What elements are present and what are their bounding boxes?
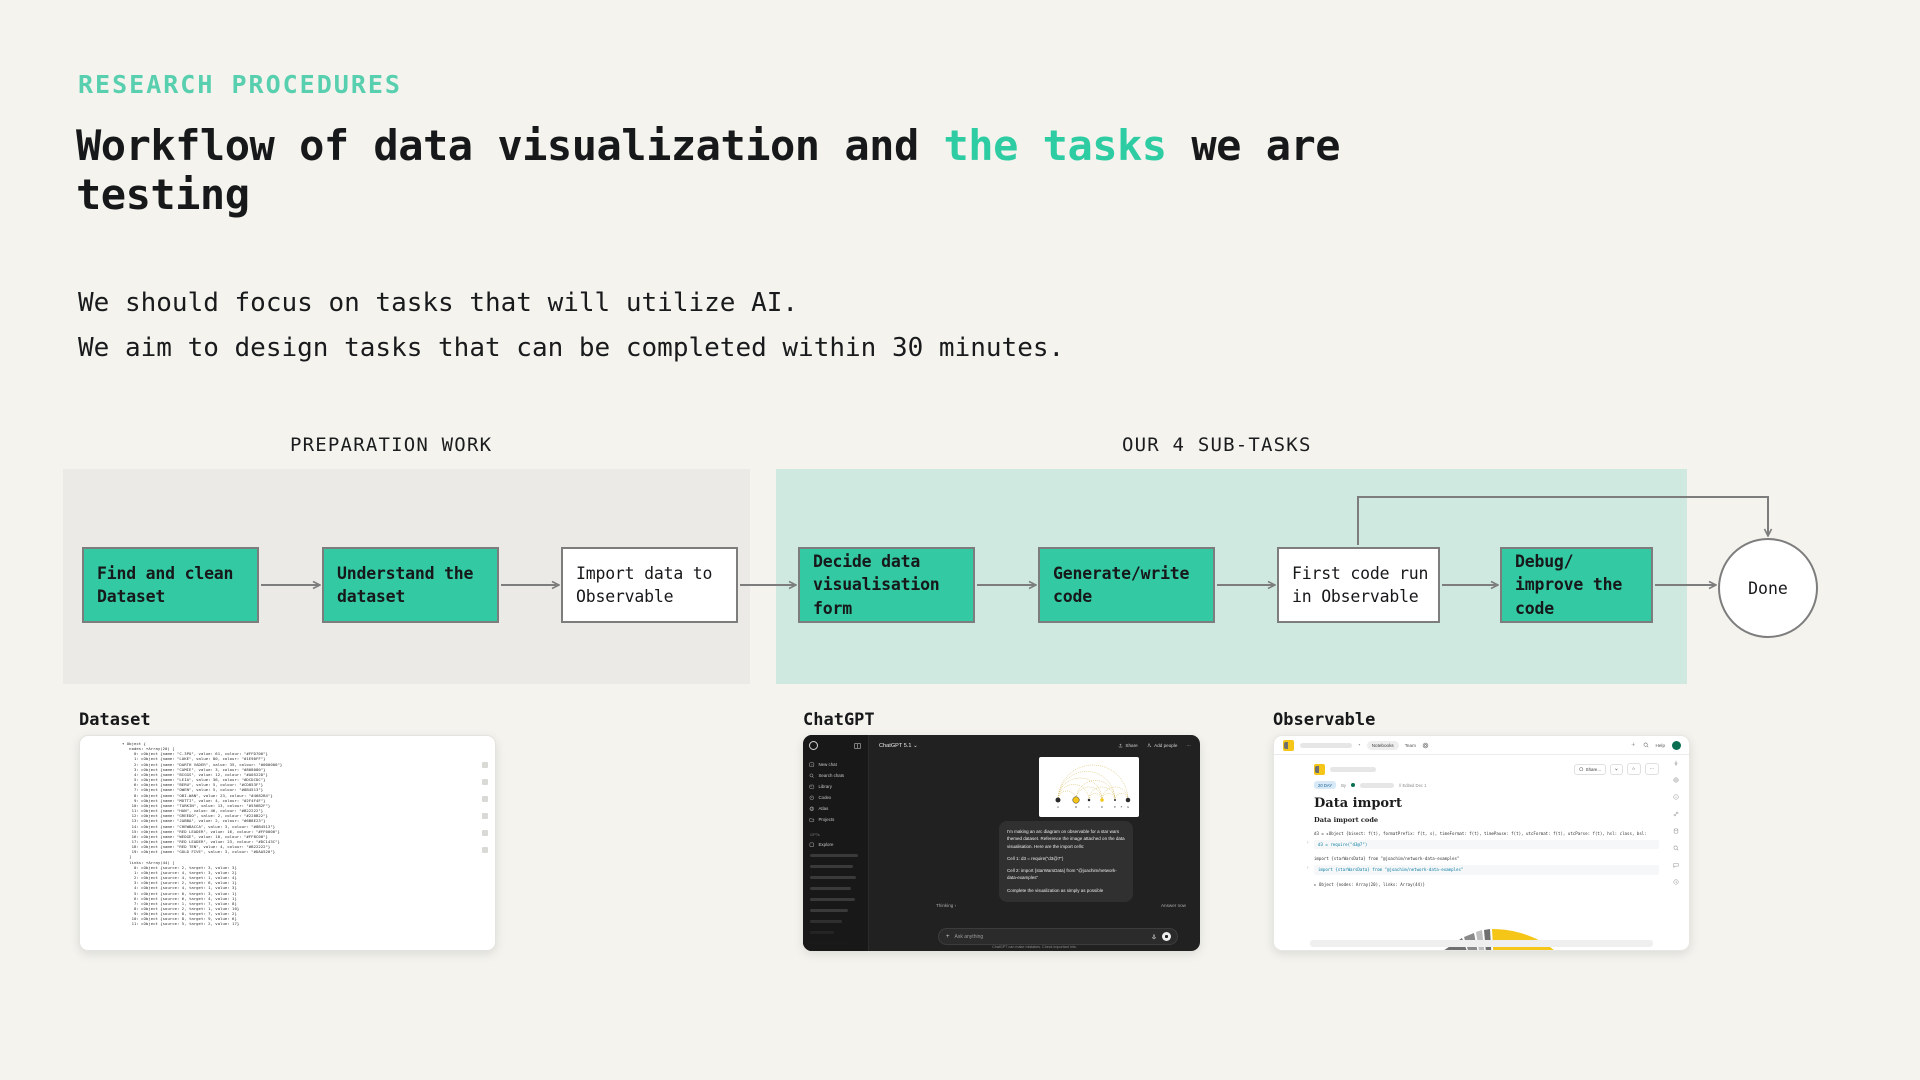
sidebar-item-label: New chat: [819, 762, 837, 767]
svg-text:B: B: [1075, 805, 1077, 809]
avatar[interactable]: [1672, 741, 1681, 750]
share-label: Share...: [1586, 767, 1601, 772]
lede-text: We should focus on tasks that will utili…: [78, 281, 1064, 370]
more-options-button[interactable]: ⋯: [1645, 763, 1659, 775]
codex-icon: [809, 795, 815, 801]
rail-icon-copy[interactable]: [482, 847, 488, 853]
message-paragraph: I'm making an arc diagram on observable …: [1007, 828, 1125, 850]
model-selector[interactable]: ChatGPT 5.1 ⌄: [879, 743, 918, 749]
sidebar-item-codex[interactable]: Codex: [809, 792, 863, 803]
notebook-header-row: Share... ⑂ ☆ ⋯: [1314, 763, 1659, 775]
sidebar-item-projects[interactable]: Projects: [809, 814, 863, 825]
svg-text:F: F: [1121, 805, 1123, 809]
globe-icon: [809, 806, 815, 812]
fork-button[interactable]: ⑂: [1610, 764, 1623, 775]
cell-output-1: d3 = ▸Object {bisect: f(t), formatPrefix…: [1314, 831, 1659, 837]
person-plus-icon: [1147, 743, 1152, 748]
byline-label: By: [1341, 783, 1346, 788]
message-paragraph: Complete the visualization as simply as …: [1007, 887, 1125, 894]
add-people-label: Add people: [1154, 743, 1177, 748]
observable-notebook-body: Share... ⑂ ☆ ⋯ 20 DAY By // Edited Dec 1…: [1274, 755, 1689, 950]
screenshot-chatgpt[interactable]: New chat Search chats Library Codex Atla…: [803, 735, 1200, 951]
history-icon[interactable]: [1673, 879, 1679, 885]
answer-now-button[interactable]: Answer now: [1161, 903, 1186, 908]
message-paragraph: Cell 1: d3 = require("d3@7"): [1007, 855, 1125, 862]
observable-right-rail[interactable]: [1672, 760, 1682, 896]
status-badge: 20 DAY: [1314, 781, 1336, 789]
flow-node-import-data-to-observable[interactable]: Import data to Observable: [561, 547, 738, 623]
page-title: Workflow of data visualization and the t…: [76, 122, 1416, 219]
lede-line-2: We aim to design tasks that can be compl…: [78, 326, 1064, 371]
link-icon[interactable]: [1673, 811, 1679, 817]
flow-node-label: Understand the dataset: [337, 562, 497, 609]
attached-arc-diagram-image: AB CD EF G: [1039, 757, 1139, 817]
star-button[interactable]: ☆: [1627, 763, 1641, 775]
nav-tab-team[interactable]: Team: [1405, 743, 1416, 748]
share-icon: [1118, 743, 1123, 748]
flow-node-decide-data-visualisation-form[interactable]: Decide data visualisation form: [798, 547, 975, 623]
flow-node-label: Decide data visualisation form: [813, 550, 973, 620]
title-accent: the tasks: [944, 121, 1167, 170]
microphone-icon[interactable]: [1151, 934, 1157, 940]
openai-logo-icon: [809, 741, 818, 750]
flow-node-label: First code run in Observable: [1292, 562, 1438, 609]
author-avatar[interactable]: [1351, 783, 1355, 787]
top-bar-actions: Share Add people ⋯: [1118, 743, 1191, 749]
composer-tools: [1151, 932, 1171, 941]
settings-gear-icon[interactable]: [1422, 742, 1429, 749]
lede-line-1: We should focus on tasks that will utili…: [78, 281, 1064, 326]
sidebar-item-search-chats[interactable]: Search chats: [809, 770, 863, 781]
svg-text:D: D: [1101, 805, 1104, 809]
flow-node-done[interactable]: Done: [1718, 538, 1818, 638]
workspace-name-redacted[interactable]: [1300, 743, 1352, 748]
svg-text:C: C: [1088, 805, 1090, 809]
pencil-square-icon: [809, 762, 815, 768]
flow-node-debug-improve-the-code[interactable]: Debug/ improve the code: [1500, 547, 1653, 623]
rail-icon-pin[interactable]: [482, 796, 488, 802]
thumbnail-label-observable: Observable: [1273, 710, 1375, 730]
folder-icon: [809, 817, 815, 823]
screenshot-dataset-inspector[interactable]: ▾ Object { nodes: ▾Array(20) [ 0: ▸Objec…: [79, 735, 496, 951]
model-name: ChatGPT 5.1: [879, 743, 912, 749]
flow-node-understand-the-dataset[interactable]: Understand the dataset: [322, 547, 499, 623]
more-options-icon[interactable]: ⋯: [1186, 743, 1191, 749]
chevron-down-icon[interactable]: ▾: [1358, 743, 1361, 748]
sidebar-item-label: Projects: [819, 817, 835, 822]
notebook-title-redacted[interactable]: [1330, 767, 1376, 772]
flow-node-label: Done: [1748, 579, 1788, 598]
sidebar-item-explore[interactable]: Explore: [809, 839, 863, 850]
attach-plus-icon[interactable]: +: [946, 934, 950, 940]
thumbnail-label-chatgpt: ChatGPT: [803, 710, 875, 730]
notebook-subheading: Data import code: [1314, 816, 1659, 824]
list-item[interactable]: [810, 898, 855, 901]
composer-placeholder: Ask anything: [955, 934, 984, 940]
share-button[interactable]: Share...: [1574, 764, 1606, 775]
flow-node-first-code-run-in-observable[interactable]: First code run in Observable: [1277, 547, 1440, 623]
sidebar-item-label: Atlas: [819, 806, 829, 811]
nav-tab-notebooks[interactable]: Notebooks: [1367, 741, 1399, 750]
edited-timestamp: // Edited Dec 1: [1399, 783, 1426, 788]
search-icon: [809, 773, 815, 779]
notebook-cell-2[interactable]: import {starWarsData} from "@joachim/net…: [1314, 865, 1659, 874]
notebook-bottom-placeholder: [1310, 940, 1653, 947]
sidebar-item-label: Search chats: [819, 773, 845, 778]
flow-node-label: Generate/write code: [1053, 562, 1213, 609]
svg-text:E: E: [1114, 805, 1116, 809]
history-scroll-fade: [803, 911, 868, 951]
share-button[interactable]: Share: [1118, 743, 1138, 748]
chatgpt-disclaimer: ChatGPT can make mistakes. Check importa…: [869, 945, 1200, 949]
notebook-actions: Share... ⑂ ☆ ⋯: [1574, 763, 1659, 775]
message-composer[interactable]: + Ask anything: [938, 928, 1178, 945]
toggle-sidebar-icon[interactable]: [854, 743, 861, 749]
flow-node-label: Import data to Observable: [576, 562, 736, 609]
assistant-status-row: Thinking › Answer now: [936, 903, 1186, 908]
chatgpt-top-bar: ChatGPT 5.1 ⌄ Share Add people ⋯: [869, 735, 1200, 756]
cell-output-2: import {starWarsData} from "@joachim/net…: [1314, 856, 1659, 862]
rail-icon-lock[interactable]: [482, 813, 488, 819]
notebook-cell-1[interactable]: d3 = require("d3@7"): [1314, 840, 1659, 849]
list-item[interactable]: [810, 865, 853, 868]
info-icon[interactable]: [1673, 794, 1679, 800]
rail-icon-search[interactable]: [482, 830, 488, 836]
sidebar-item-label: Explore: [819, 842, 834, 847]
message-paragraph: Cell 2: import {starWarsData} from "@joa…: [1007, 867, 1125, 882]
new-plus-icon[interactable]: ＋: [1631, 742, 1636, 748]
thinking-status: Thinking ›: [936, 903, 956, 908]
database-icon[interactable]: [1673, 828, 1679, 834]
thumbnail-label-dataset: Dataset: [79, 710, 151, 730]
sidebar-item-label: Library: [819, 784, 832, 789]
sidebar-item-label: Codex: [819, 795, 832, 800]
pin-icon[interactable]: [1673, 760, 1679, 766]
flow-node-label: Debug/ improve the code: [1515, 550, 1651, 620]
chevron-down-icon: ⌄: [913, 743, 918, 749]
observable-logo-icon: [1283, 740, 1294, 751]
band-caption-preparation: PREPARATION WORK: [290, 434, 492, 456]
dataset-scroll-fade: [80, 934, 495, 950]
flow-node-label: Find and clean Dataset: [97, 562, 257, 609]
list-item[interactable]: [810, 876, 856, 879]
flow-node-find-and-clean-dataset[interactable]: Find and clean Dataset: [82, 547, 259, 623]
observable-top-actions: ＋ Help: [1631, 741, 1681, 750]
eyebrow-label: RESEARCH PROCEDURES: [78, 70, 402, 99]
user-message-bubble: I'm making an arc diagram on observable …: [999, 821, 1133, 902]
rail-icon-link[interactable]: [482, 779, 488, 785]
images-icon: [809, 784, 815, 790]
globe-icon: [1579, 767, 1584, 772]
band-caption-subtasks: OUR 4 SUB-TASKS: [1122, 434, 1312, 456]
flow-node-generate-write-code[interactable]: Generate/write code: [1038, 547, 1215, 623]
gear-icon[interactable]: [1673, 777, 1679, 783]
rail-icon-percent[interactable]: [482, 762, 488, 768]
cell-source-1: d3 = require("d3@7"): [1318, 842, 1649, 848]
dataset-toolbar-rail[interactable]: [480, 762, 490, 864]
stop-square-icon: [1165, 935, 1168, 938]
search-icon[interactable]: [1643, 742, 1649, 748]
notebook-icon: [1314, 764, 1325, 775]
author-name-redacted[interactable]: [1360, 783, 1394, 788]
search-icon[interactable]: [1673, 845, 1679, 851]
send-stop-button[interactable]: [1162, 932, 1171, 941]
list-item[interactable]: [810, 854, 858, 857]
comment-icon[interactable]: [1673, 862, 1679, 868]
sidebar-item-new-chat[interactable]: New chat: [809, 759, 863, 770]
title-part-one: Workflow of data visualization and: [76, 121, 944, 170]
dataset-code-listing: ▾ Object { nodes: ▾Array(20) [ 0: ▸Objec…: [80, 736, 495, 927]
share-label: Share: [1125, 743, 1137, 748]
cell-source-2: import {starWarsData} from "@joachim/net…: [1318, 867, 1649, 873]
sidebar-item-library[interactable]: Library: [809, 781, 863, 792]
chatgpt-sidebar[interactable]: New chat Search chats Library Codex Atla…: [803, 735, 869, 951]
notebook-meta-row: 20 DAY By // Edited Dec 1: [1314, 781, 1659, 789]
sidebar-item-atlas[interactable]: Atlas: [809, 803, 863, 814]
cell-result-object: ▸ Object {nodes: Array(20), links: Array…: [1314, 882, 1659, 888]
notebook-heading: Data import: [1314, 796, 1659, 811]
screenshot-observable[interactable]: ▾ Notebooks Team ＋ Help Share... ⑂ ☆ ⋯: [1273, 735, 1690, 951]
svg-text:A: A: [1057, 805, 1060, 809]
observable-top-nav: ▾ Notebooks Team ＋ Help: [1274, 736, 1689, 755]
list-item[interactable]: [810, 887, 851, 890]
grid-icon: [809, 842, 815, 848]
add-people-button[interactable]: Add people: [1147, 743, 1178, 748]
sidebar-section-gpts: GPTs: [810, 832, 863, 837]
help-link[interactable]: Help: [1656, 743, 1665, 748]
svg-text:G: G: [1127, 805, 1130, 809]
